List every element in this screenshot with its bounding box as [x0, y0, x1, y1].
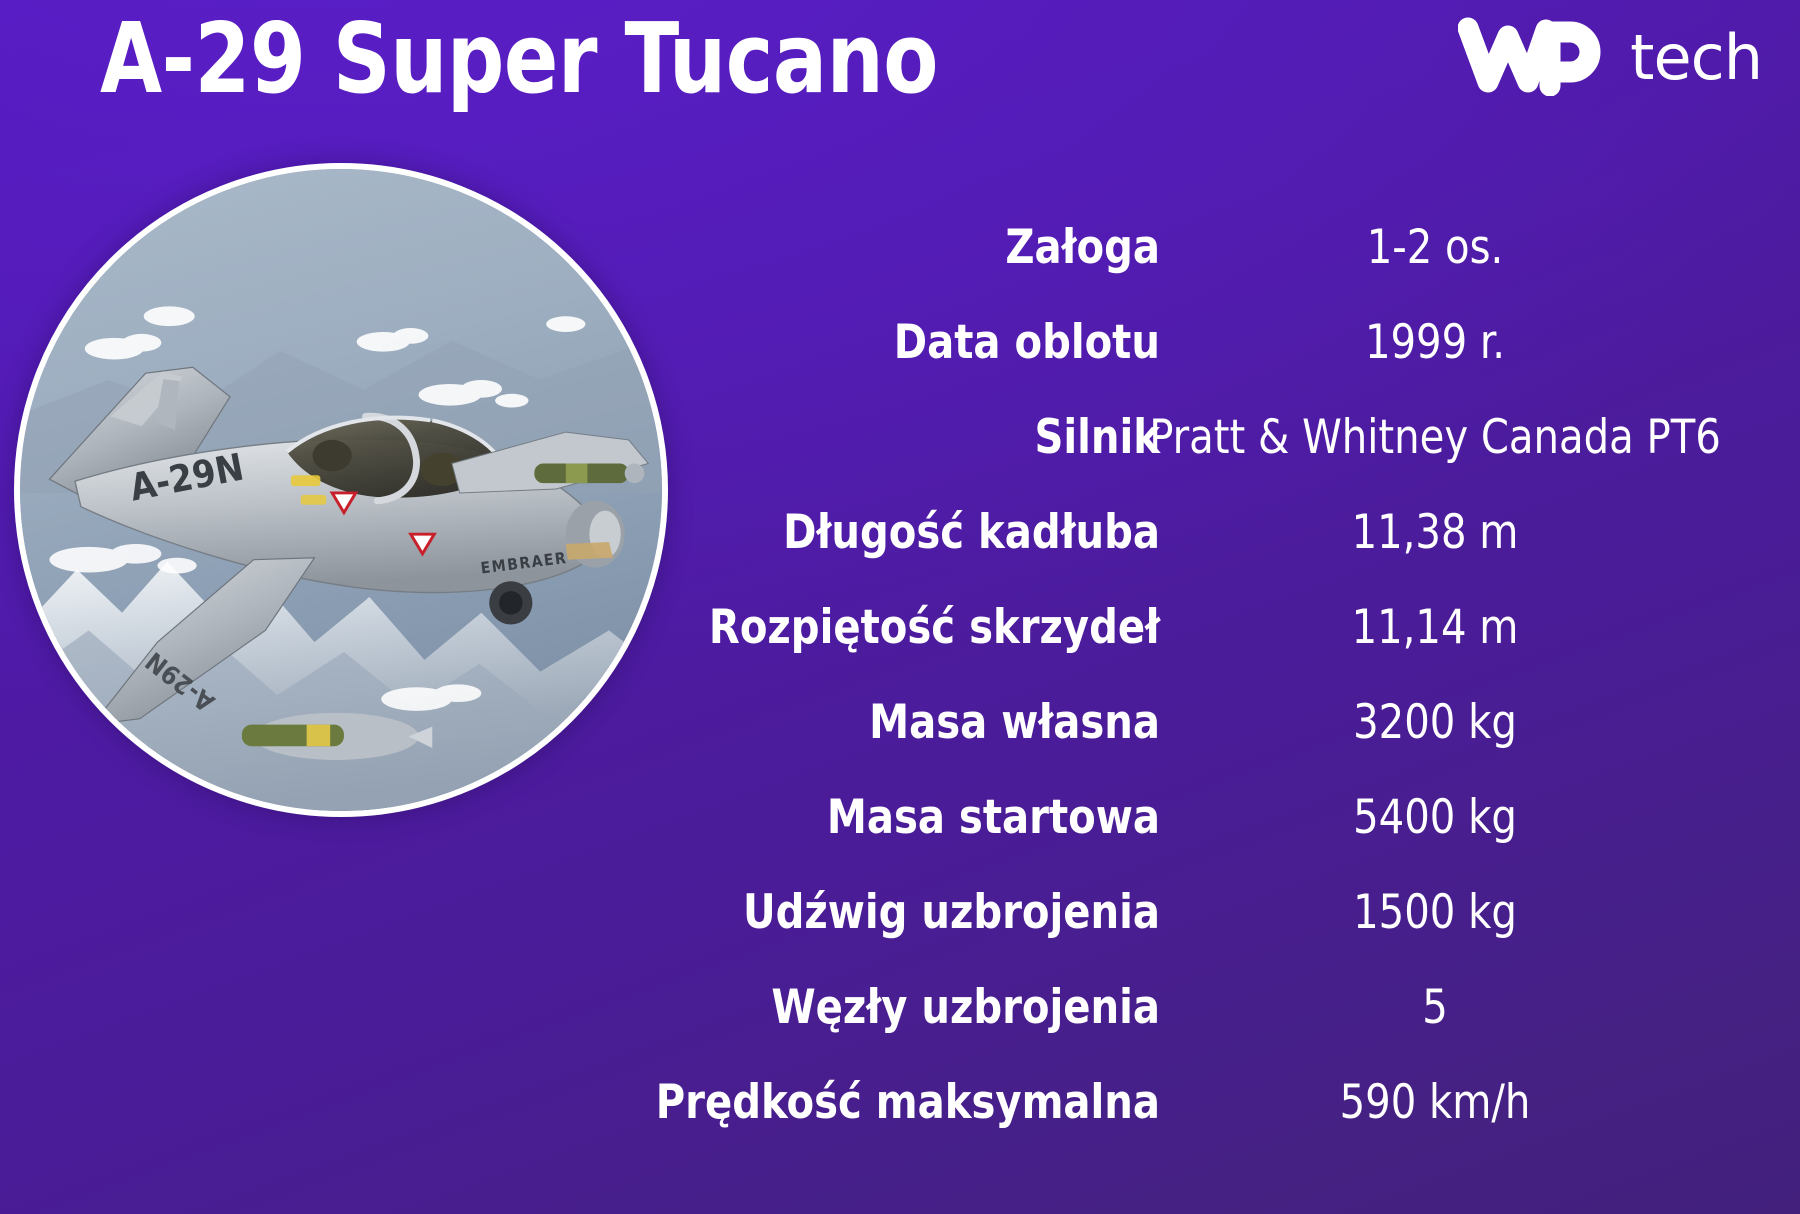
spec-label: Masa własna: [571, 691, 1160, 755]
header: A-29 Super Tucano tech: [0, 0, 1800, 130]
spec-value: Pratt & Whitney Canada PT6: [1088, 406, 1782, 470]
spec-label: Załoga: [571, 216, 1160, 280]
spec-value: 590 km/h: [1088, 1071, 1782, 1135]
spec-label: Długość kadłuba: [571, 501, 1160, 565]
wp-logo-icon: [1458, 16, 1608, 96]
spec-row: SilnikPratt & Whitney Canada PT6: [620, 406, 1800, 501]
spec-value: 5400 kg: [1088, 786, 1782, 850]
spec-label: Masa startowa: [571, 786, 1160, 850]
spec-label: Data oblotu: [571, 311, 1160, 375]
spec-value: 5: [1088, 976, 1782, 1040]
spec-row: Długość kadłuba11,38 m: [620, 501, 1800, 596]
spec-row: Prędkość maksymalna590 km/h: [620, 1071, 1800, 1166]
brand-word: tech: [1630, 27, 1762, 89]
spec-label: Rozpiętość skrzydeł: [571, 596, 1160, 660]
spec-value: 1500 kg: [1088, 881, 1782, 945]
spec-row: Masa startowa5400 kg: [620, 786, 1800, 881]
spec-value: 11,14 m: [1088, 596, 1782, 660]
spec-value: 11,38 m: [1088, 501, 1782, 565]
spec-value: 3200 kg: [1088, 691, 1782, 755]
spec-row: Załoga1-2 os.: [620, 216, 1800, 311]
spec-row: Udźwig uzbrojenia1500 kg: [620, 881, 1800, 976]
brand-logo: tech: [1458, 14, 1762, 98]
aircraft-photo: A-29N EMBRAER A-29N: [14, 163, 668, 817]
spec-row: Węzły uzbrojenia5: [620, 976, 1800, 1071]
spec-row: Rozpiętość skrzydeł11,14 m: [620, 596, 1800, 691]
aircraft-photo-image: A-29N EMBRAER A-29N: [20, 169, 662, 811]
spec-value: 1-2 os.: [1088, 216, 1782, 280]
spec-row: Masa własna3200 kg: [620, 691, 1800, 786]
spec-label: Węzły uzbrojenia: [571, 976, 1160, 1040]
spec-label: Silnik: [571, 406, 1160, 470]
spec-row: Data oblotu1999 r.: [620, 311, 1800, 406]
spec-table: Załoga1-2 os.Data oblotu1999 r.SilnikPra…: [620, 216, 1800, 1166]
page-title: A-29 Super Tucano: [100, 5, 938, 113]
spec-label: Udźwig uzbrojenia: [571, 881, 1160, 945]
spec-label: Prędkość maksymalna: [571, 1071, 1160, 1135]
spec-value: 1999 r.: [1088, 311, 1782, 375]
